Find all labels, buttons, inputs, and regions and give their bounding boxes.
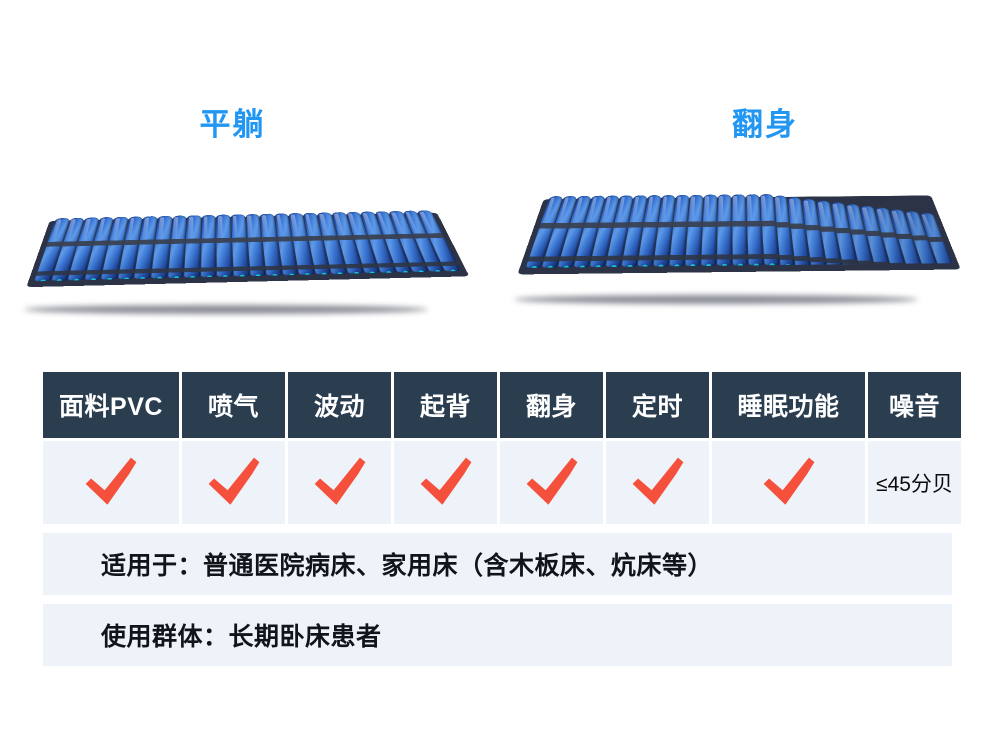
tube-strap bbox=[134, 269, 152, 274]
tube-strap bbox=[151, 268, 169, 273]
spec-header-cell: 波动 bbox=[288, 372, 391, 438]
spec-header-label: 噪音 bbox=[889, 387, 940, 423]
tube-strap bbox=[200, 267, 217, 272]
spec-table-header-row: 面料PVC喷气波动起背翻身定时睡眠功能噪音 bbox=[43, 372, 952, 438]
check-icon bbox=[629, 454, 687, 512]
check-icon bbox=[417, 454, 475, 512]
spec-value-cell bbox=[500, 441, 603, 524]
tube-strap bbox=[184, 268, 201, 273]
spec-header-label: 定时 bbox=[632, 387, 683, 423]
tube-strap bbox=[216, 267, 233, 272]
tube-strap bbox=[669, 255, 686, 260]
mattress-shadow bbox=[24, 305, 428, 314]
noise-level-value: ≤45分贝 bbox=[876, 468, 953, 498]
pose-label-flat: 平躺 bbox=[10, 105, 490, 145]
tube-strap bbox=[716, 254, 733, 259]
air-tube bbox=[731, 194, 747, 265]
air-tube bbox=[216, 215, 232, 277]
check-icon bbox=[523, 454, 581, 512]
tube-nozzle bbox=[547, 266, 553, 268]
spec-table-value-row: ≤45分贝 bbox=[43, 441, 952, 524]
note-text-audience: 使用群体：长期卧床患者 bbox=[101, 617, 382, 653]
tube-strap bbox=[281, 265, 299, 270]
note-row-application: 适用于：普通医院病床、家用床（含木板床、炕床等） bbox=[43, 533, 952, 595]
spec-value-cell bbox=[182, 441, 285, 524]
tube-strap bbox=[684, 255, 701, 260]
note-row-audience: 使用群体：长期卧床患者 bbox=[43, 604, 952, 666]
spec-header-label: 翻身 bbox=[526, 387, 577, 423]
product-showcase: 平躺 翻身 bbox=[0, 0, 990, 350]
spec-header-cell: 睡眠功能 bbox=[712, 372, 865, 438]
tube-strap bbox=[700, 255, 717, 260]
tube-strap bbox=[232, 266, 249, 271]
air-tube bbox=[717, 194, 732, 265]
check-icon bbox=[205, 454, 263, 512]
air-tube bbox=[701, 195, 717, 266]
tube-strap bbox=[167, 268, 185, 273]
spec-header-cell: 噪音 bbox=[868, 372, 961, 438]
tube-strap bbox=[731, 254, 748, 259]
check-icon bbox=[760, 454, 818, 512]
spec-value-cell bbox=[606, 441, 709, 524]
tube-strap bbox=[794, 256, 811, 261]
spec-value-cell bbox=[43, 441, 179, 524]
tube-strap bbox=[778, 255, 795, 260]
tube-strap bbox=[440, 262, 459, 267]
spec-header-cell: 喷气 bbox=[182, 372, 285, 438]
mattress-air-tubes bbox=[34, 210, 460, 281]
tube-strap bbox=[653, 255, 670, 260]
tube-nozzle bbox=[40, 279, 46, 281]
tube-strap bbox=[747, 254, 764, 259]
spec-value-cell bbox=[712, 441, 865, 524]
spec-header-cell: 定时 bbox=[606, 372, 709, 438]
spec-value-cell bbox=[394, 441, 497, 524]
mattress-air-tubes bbox=[526, 193, 953, 268]
tube-strap bbox=[265, 266, 283, 271]
spec-header-cell: 面料PVC bbox=[43, 372, 179, 438]
check-icon bbox=[82, 454, 140, 512]
product-panel-turning: 翻身 bbox=[500, 0, 980, 350]
tube-strap bbox=[762, 254, 779, 259]
air-tube bbox=[201, 215, 217, 277]
spec-header-label: 睡眠功能 bbox=[737, 387, 839, 423]
spec-header-cell: 翻身 bbox=[500, 372, 603, 438]
spec-header-label: 喷气 bbox=[208, 387, 259, 423]
spec-value-cell: ≤45分贝 bbox=[868, 441, 961, 524]
spec-table: 面料PVC喷气波动起背翻身定时睡眠功能噪音 ≤45分贝 适用于：普通医院病床、家… bbox=[43, 372, 952, 666]
air-tube bbox=[184, 215, 201, 278]
mattress-flat-photo bbox=[10, 145, 490, 310]
spec-header-cell: 起背 bbox=[394, 372, 497, 438]
spec-value-cell bbox=[288, 441, 391, 524]
spec-header-label: 起背 bbox=[420, 387, 471, 423]
note-text-application: 适用于：普通医院病床、家用床（含木板床、炕床等） bbox=[101, 546, 713, 582]
check-icon bbox=[311, 454, 369, 512]
tube-strap bbox=[248, 266, 266, 271]
product-spec-page: 平躺 翻身 面料PVC喷气波动起背翻身定时睡眠功能噪音 bbox=[0, 0, 990, 755]
tube-nozzle bbox=[531, 266, 537, 268]
product-panel-flat: 平躺 bbox=[10, 0, 490, 350]
spec-header-label: 面料PVC bbox=[59, 387, 163, 423]
mattress-shadow bbox=[514, 295, 918, 304]
spec-header-label: 波动 bbox=[314, 387, 365, 423]
mattress-turning-photo bbox=[500, 135, 980, 300]
